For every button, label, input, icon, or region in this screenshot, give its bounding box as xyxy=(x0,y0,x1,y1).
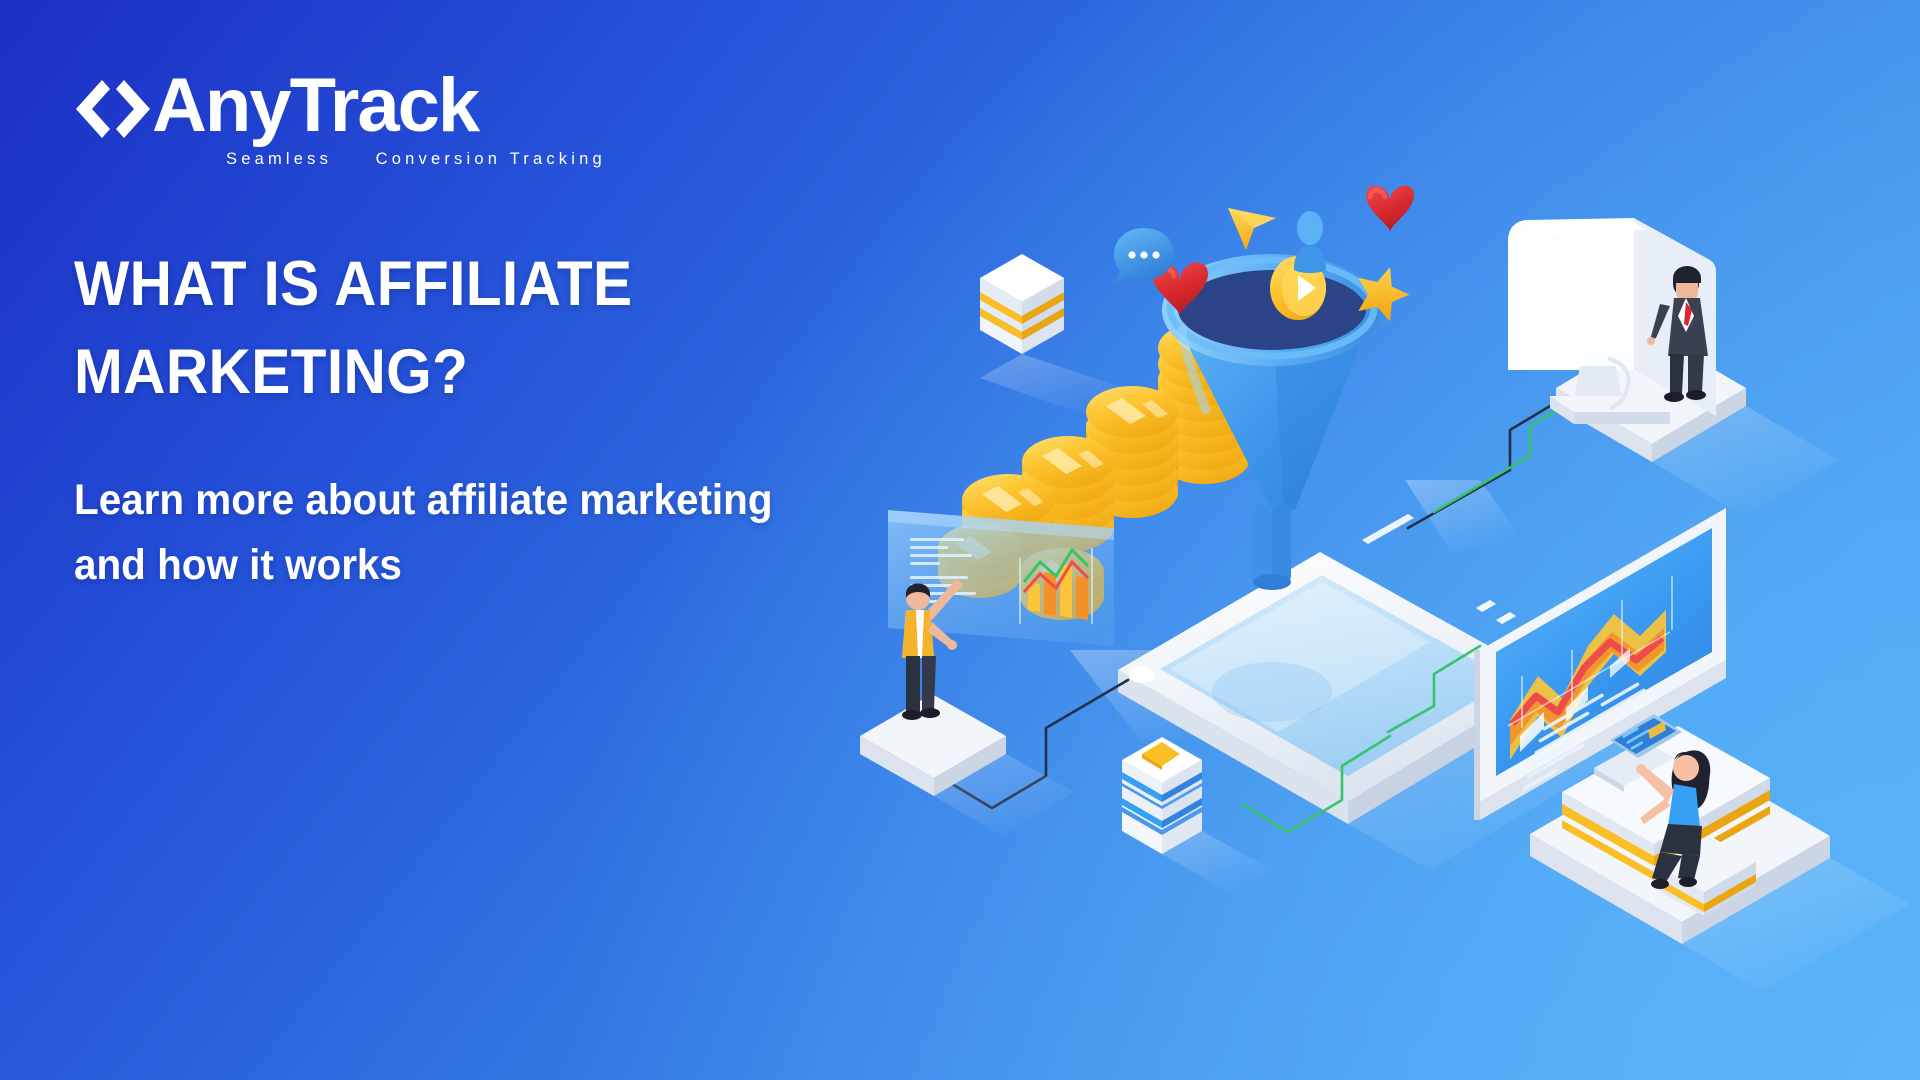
logo-tagline-right: Conversion Tracking xyxy=(376,150,606,168)
user-icon xyxy=(1294,211,1326,273)
logo-tagline: Seamless Conversion Tracking xyxy=(226,150,606,169)
page-title: What is affiliate marketing? xyxy=(74,240,781,416)
code-brackets-diamond-icon xyxy=(74,78,152,140)
anytrack-logo[interactable]: AnyTrack Seamless Conversion Tracking xyxy=(74,62,574,172)
heart-icon-small xyxy=(1366,186,1414,232)
banner-canvas: AnyTrack Seamless Conversion Tracking Wh… xyxy=(0,0,1920,1080)
cursor-icon xyxy=(1228,208,1276,250)
page-subtitle: Learn more about affiliate marketing and… xyxy=(74,468,788,598)
logo-wordmark: AnyTrack xyxy=(152,62,478,150)
hero-illustration xyxy=(1010,180,1920,920)
logo-tagline-left: Seamless xyxy=(226,150,332,168)
presenter-platform xyxy=(860,694,1074,836)
